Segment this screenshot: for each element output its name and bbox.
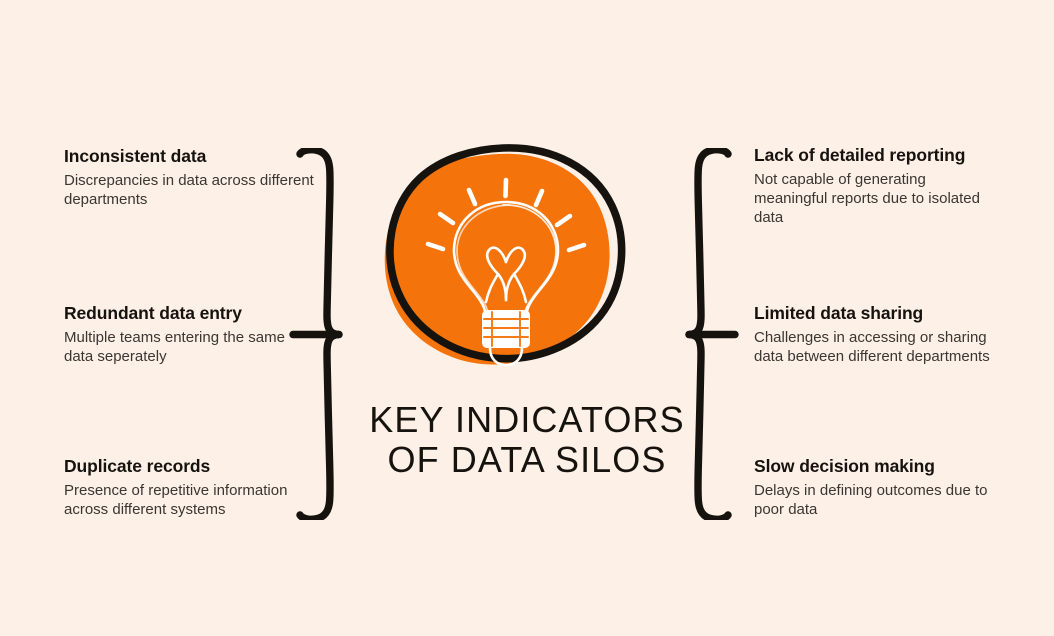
- lightbulb-emblem-icon: [372, 140, 640, 390]
- indicator-description: Challenges in accessing or sharing data …: [754, 329, 999, 367]
- lightbulb-emblem: [372, 140, 640, 390]
- indicator-item-redundant-data-entry: Redundant data entry Multiple teams ente…: [64, 303, 314, 367]
- indicator-item-lack-of-detailed-reporting: Lack of detailed reporting Not capable o…: [754, 145, 1004, 228]
- page-title: KEY INDICATORS OF DATA SILOS: [327, 400, 727, 480]
- indicator-title: Slow decision making: [754, 456, 1014, 477]
- indicator-title: Duplicate records: [64, 456, 314, 477]
- indicator-description: Presence of repetitive information acros…: [64, 482, 314, 520]
- indicator-description: Multiple teams entering the same data se…: [64, 329, 314, 367]
- indicator-title: Redundant data entry: [64, 303, 314, 324]
- indicator-description: Not capable of generating meaningful rep…: [754, 171, 999, 228]
- indicator-description: Delays in defining outcomes due to poor …: [754, 482, 999, 520]
- indicator-item-slow-decision-making: Slow decision making Delays in defining …: [754, 456, 1004, 520]
- indicator-title: Lack of detailed reporting: [754, 145, 1014, 166]
- indicator-description: Discrepancies in data across different d…: [64, 172, 314, 210]
- indicator-item-limited-data-sharing: Limited data sharing Challenges in acces…: [754, 303, 1004, 367]
- indicator-title: Limited data sharing: [754, 303, 1014, 324]
- infographic-canvas: Inconsistent data Discrepancies in data …: [0, 0, 1054, 636]
- indicator-item-inconsistent-data: Inconsistent data Discrepancies in data …: [64, 146, 314, 210]
- indicator-item-duplicate-records: Duplicate records Presence of repetitive…: [64, 456, 314, 520]
- indicator-title: Inconsistent data: [64, 146, 314, 167]
